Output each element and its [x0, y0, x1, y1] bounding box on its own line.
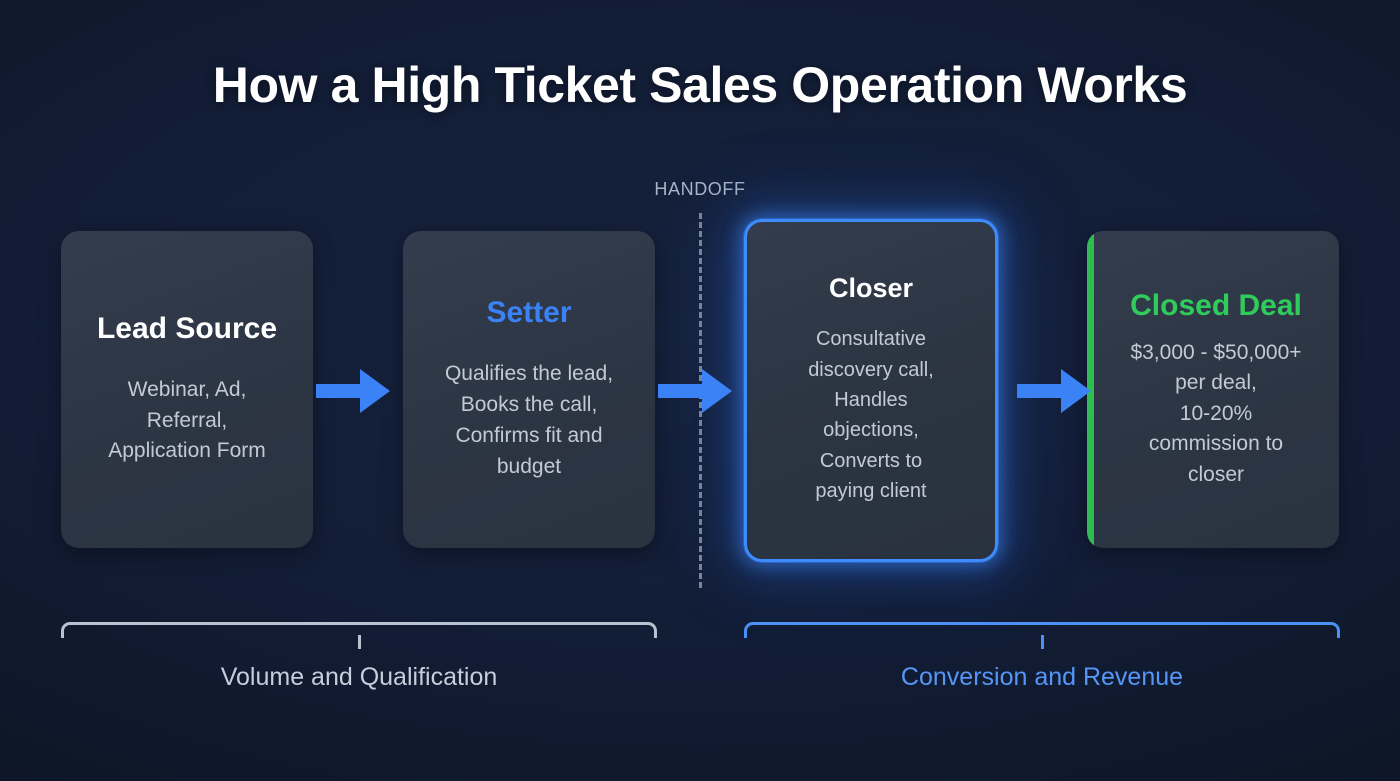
card-closer-title: Closer: [829, 274, 913, 304]
bracket-label-volume-and-qualification: Volume and Qualification: [61, 663, 657, 692]
card-closer-body: Consultative discovery call, Handles obj…: [808, 324, 934, 506]
arrow-right-icon: [316, 367, 390, 415]
card-lead-source: Lead Source Webinar, Ad, Referral, Appli…: [61, 231, 313, 548]
handoff-label: HANDOFF: [620, 179, 780, 200]
card-setter: Setter Qualifies the lead, Books the cal…: [403, 231, 655, 548]
page-title: How a High Ticket Sales Operation Works: [0, 56, 1400, 114]
card-setter-title: Setter: [486, 296, 571, 329]
bracket-volume-and-qualification: [61, 622, 657, 648]
card-closed-deal: Closed Deal $3,000 - $50,000+ per deal, …: [1087, 231, 1339, 548]
bracket-tick: [1041, 635, 1044, 649]
bracket-tick: [358, 635, 361, 649]
card-closed-deal-body: $3,000 - $50,000+ per deal, 10-20% commi…: [1130, 338, 1301, 490]
arrow-right-icon: [658, 367, 732, 415]
card-lead-source-body: Webinar, Ad, Referral, Application Form: [108, 375, 266, 468]
card-setter-body: Qualifies the lead, Books the call, Conf…: [445, 359, 613, 482]
card-closed-deal-title: Closed Deal: [1130, 289, 1302, 322]
bracket-conversion-and-revenue: [744, 622, 1340, 648]
card-closer: Closer Consultative discovery call, Hand…: [744, 219, 998, 562]
infographic-canvas: How a High Ticket Sales Operation Works …: [0, 0, 1400, 781]
arrow-right-icon: [1017, 367, 1091, 415]
bracket-label-conversion-and-revenue: Conversion and Revenue: [744, 663, 1340, 692]
card-lead-source-title: Lead Source: [97, 312, 277, 345]
